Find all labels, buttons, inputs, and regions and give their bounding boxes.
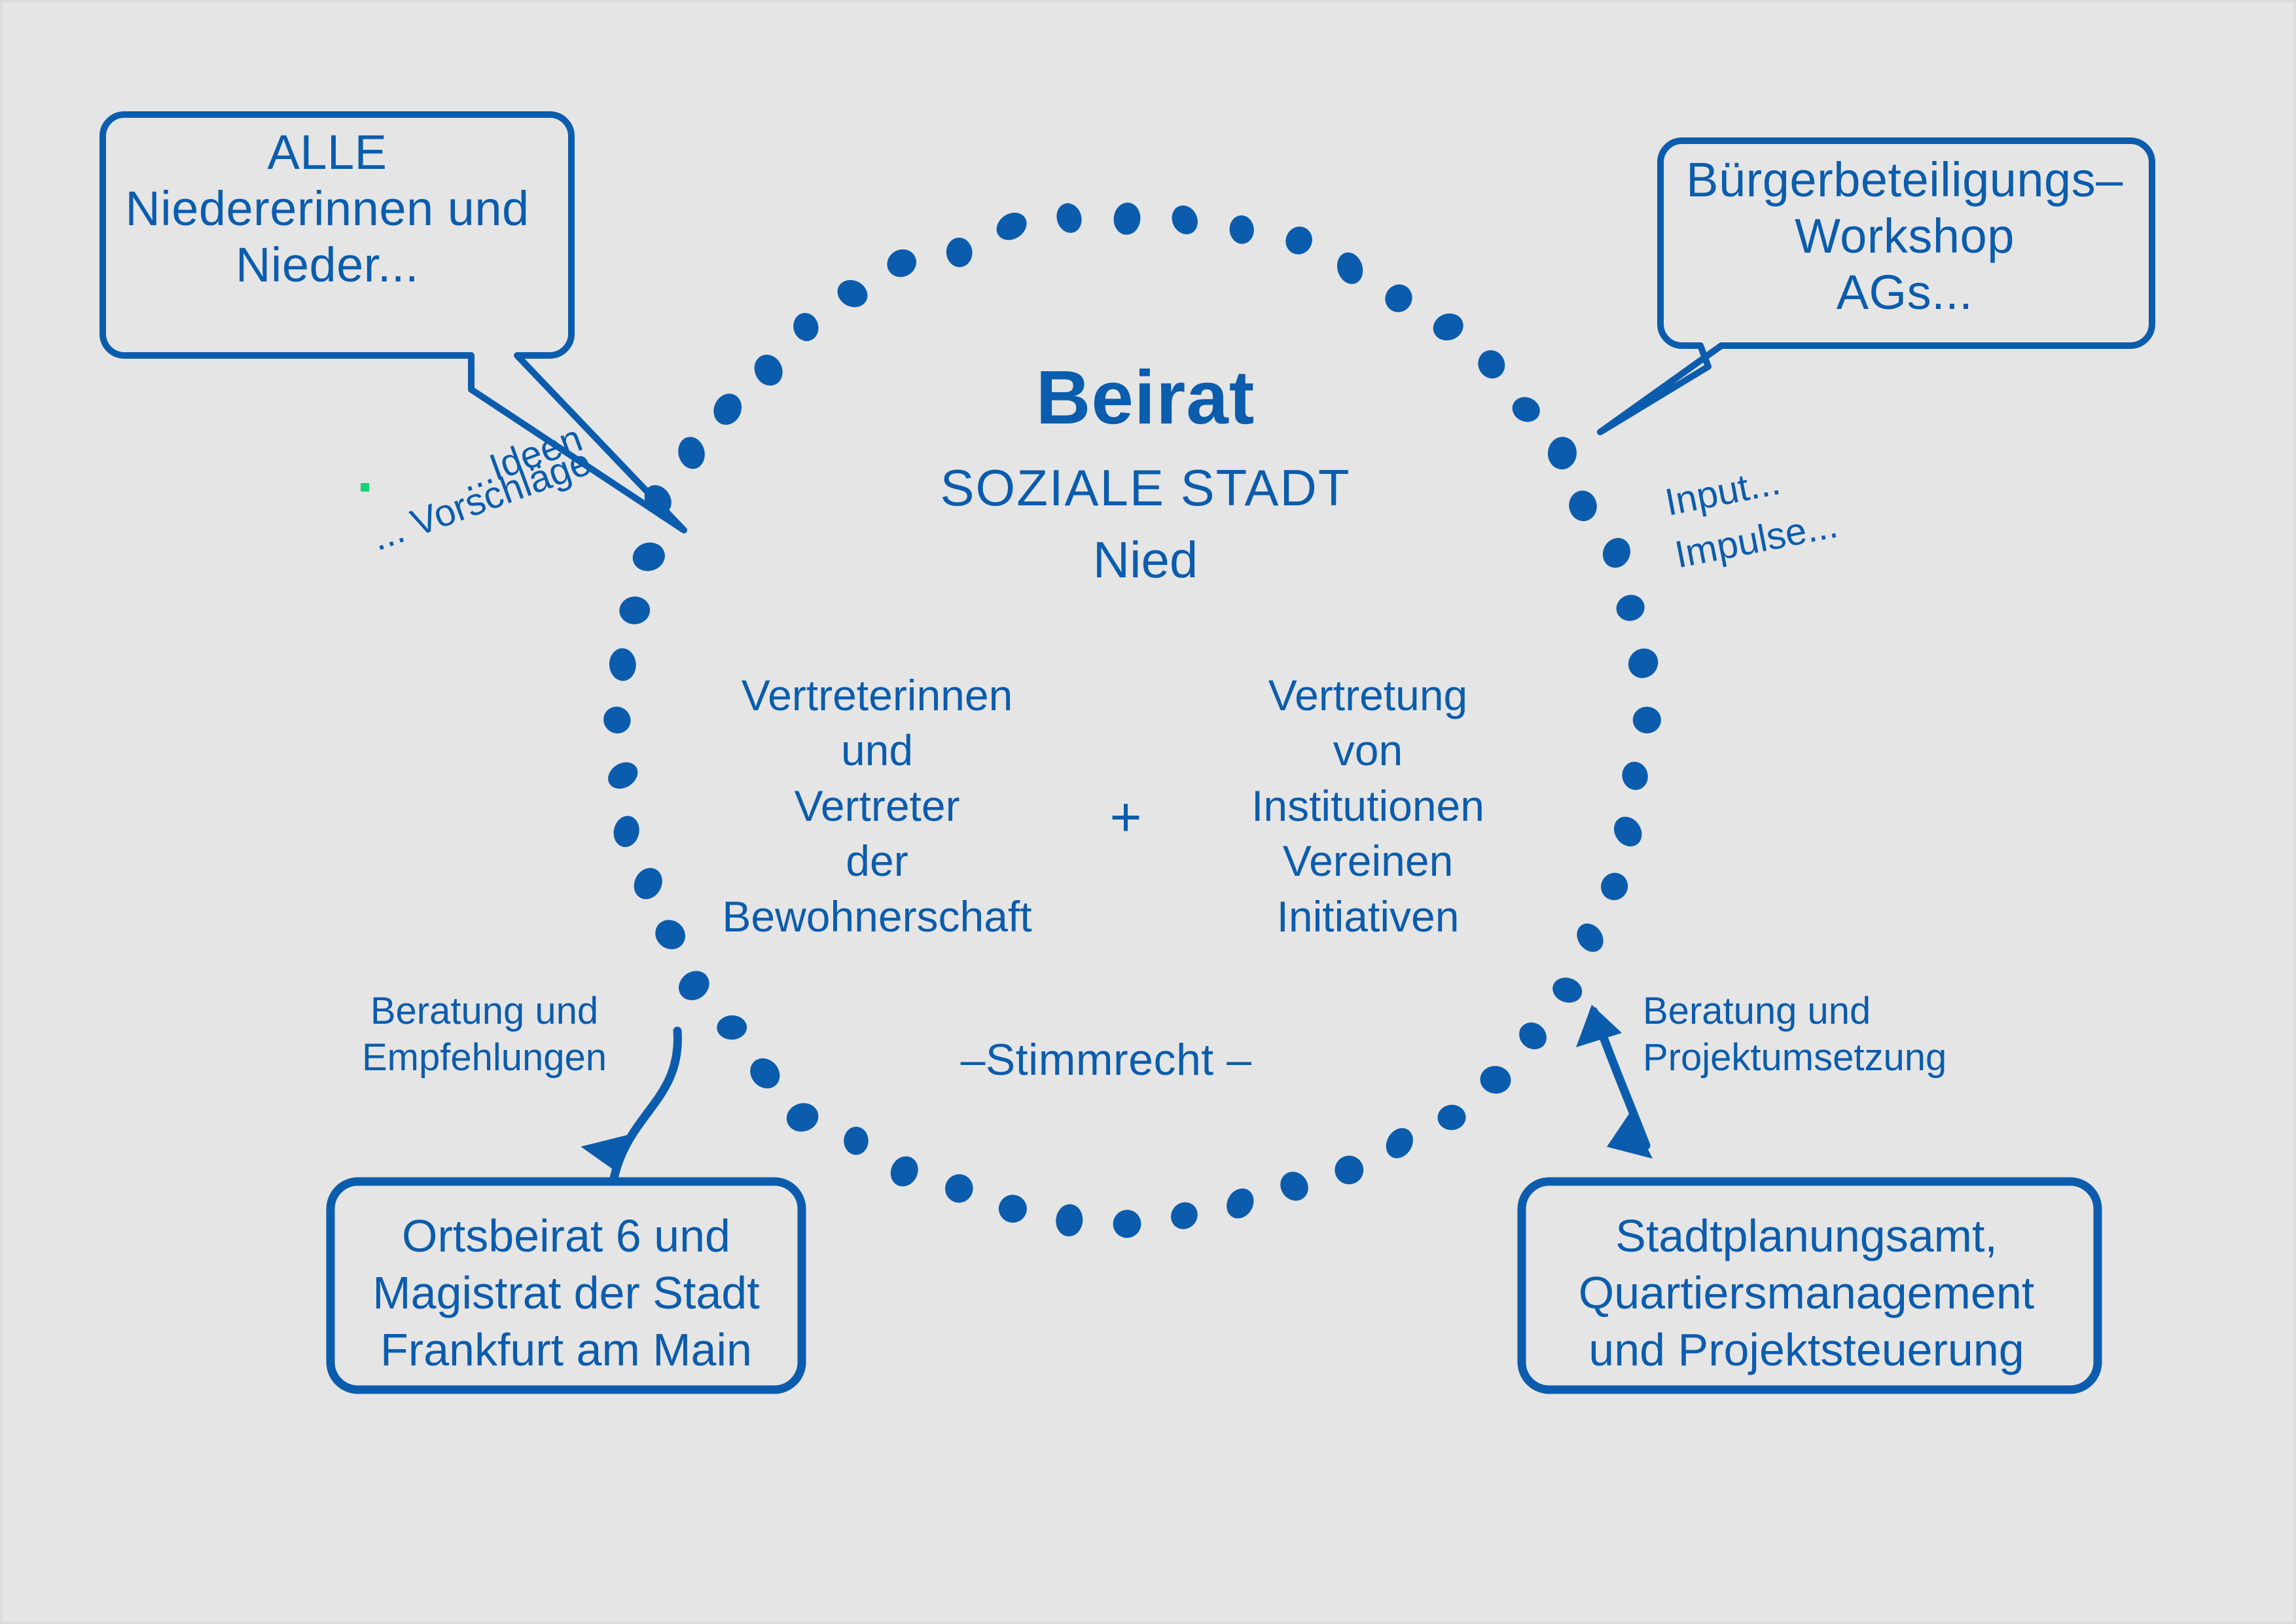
arrow-label-right: Beratung und Projektumsetzung — [1643, 988, 1970, 1081]
arrow-label-left: Beratung und Empfehlungen — [347, 988, 622, 1081]
center-footnote-stimmrecht: –Stimmrecht – — [877, 1034, 1335, 1086]
speech-bubble-left-text: ALLE Niedererinnen und Nieder... — [92, 124, 563, 293]
box-ortsbeirat-text: Ortsbeirat 6 und Magistrat der Stadt Fra… — [340, 1208, 792, 1378]
green-marker-dot — [361, 483, 369, 492]
center-column-right: Vertretung von Institutionen Vereinen In… — [1204, 668, 1532, 944]
speech-bubble-right-text: Bürgerbeteiligungs– Workshop AGs... — [1676, 152, 2134, 320]
center-subtitle-line1: SOZIALE STADT — [785, 458, 1505, 517]
box-stadtplanungsamt-text: Stadtplanungsamt, Quartiersmanagement un… — [1525, 1208, 2088, 1378]
center-column-left: Vertreterinnen und Vertreter der Bewohne… — [694, 668, 1060, 944]
center-title: Beirat — [785, 353, 1505, 442]
diagram-canvas: ALLE Niedererinnen und Nieder... Bürgerb… — [0, 0, 2296, 1624]
plus-operator: + — [1067, 785, 1185, 849]
center-subtitle-line2: Nied — [785, 530, 1505, 589]
arrow-right-bidirectional — [1576, 1005, 1653, 1159]
